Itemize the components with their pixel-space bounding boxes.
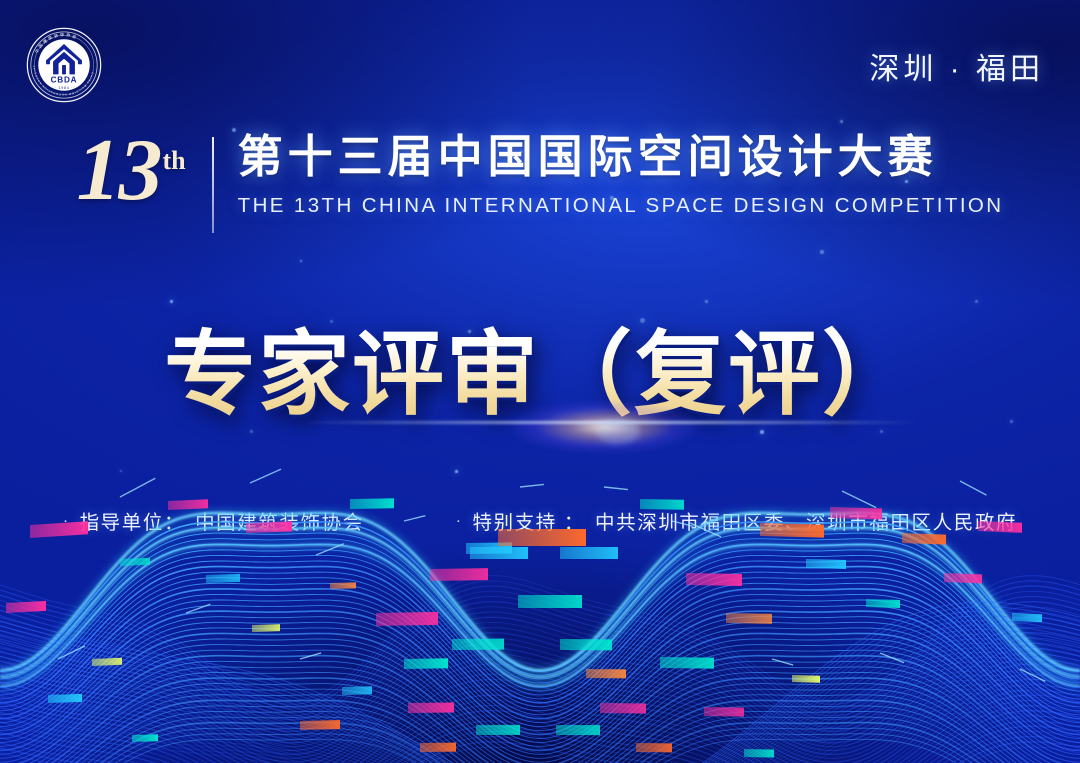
competition-title-cn: 第十三届中国国际空间设计大赛 [238, 133, 1004, 180]
cbda-logo: CBDA · 1984 · 中国建筑装饰协会 CHINA BUILDING DE… [25, 26, 103, 104]
edition-number-value: 13 [77, 122, 161, 219]
wave-ribbon-graphic [0, 463, 1080, 763]
svg-text:· 1984 ·: · 1984 · [55, 86, 74, 90]
headline-text: 专家评审（复评） [164, 300, 916, 433]
svg-text:CBDA: CBDA [51, 76, 78, 85]
competition-title-en: THE 13TH CHINA INTERNATIONAL SPACE DESIG… [238, 194, 1004, 218]
poster-canvas: CBDA · 1984 · 中国建筑装饰协会 CHINA BUILDING DE… [0, 0, 1080, 763]
edition-number-suffix: th [163, 146, 186, 175]
competition-title-block: 13th 第十三届中国国际空间设计大赛 THE 13TH CHINA INTER… [0, 133, 1080, 233]
headline-block: 专家评审（复评） 专家评审（复评） [0, 300, 1080, 433]
edition-number: 13th [77, 129, 190, 213]
region-label: 深圳 · 福田 [869, 44, 1044, 88]
title-divider [212, 137, 214, 233]
